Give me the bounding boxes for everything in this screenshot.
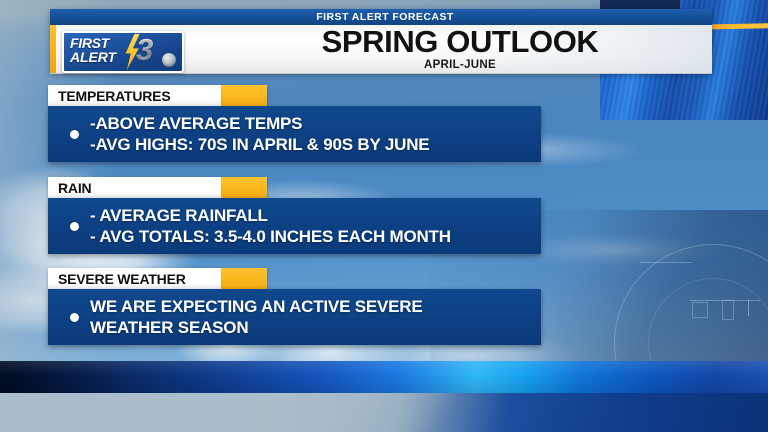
- section-line: - AVERAGE RAINFALL: [90, 205, 533, 226]
- section-heading: RAIN: [48, 181, 91, 195]
- page-subtitle: APRIL-JUNE: [220, 59, 700, 71]
- section-accent-block: [221, 268, 267, 289]
- section-content-panel: - AVERAGE RAINFALL - AVG TOTALS: 3.5-4.0…: [48, 198, 541, 254]
- section-content-panel: WE ARE EXPECTING AN ACTIVE SEVERE WEATHE…: [48, 289, 541, 345]
- logo-alert-text: ALERT: [70, 50, 116, 64]
- page-title: SPRING OUTLOOK: [220, 26, 700, 58]
- bullet-point-icon: [70, 313, 79, 322]
- section-temperatures: TEMPERATURES -ABOVE AVERAGE TEMPS -AVG H…: [48, 85, 541, 162]
- section-header-tab: SEVERE WEATHER: [48, 268, 267, 289]
- weather-graphic-stage: FIRST ALERT FORECAST FIRST ALERT 3 SPRIN…: [0, 0, 768, 432]
- logo-orb-icon: [162, 53, 176, 67]
- section-lines: WE ARE EXPECTING AN ACTIVE SEVERE WEATHE…: [90, 296, 541, 338]
- logo-first-text: FIRST: [70, 36, 116, 50]
- hud-tick-line: [748, 300, 749, 316]
- bullet-point-icon: [70, 130, 79, 139]
- section-heading: SEVERE WEATHER: [48, 272, 186, 286]
- logo-channel-number: 3: [136, 33, 153, 67]
- bottom-gradient-band: [0, 361, 768, 393]
- bullet-point-icon: [70, 222, 79, 231]
- section-lines: -ABOVE AVERAGE TEMPS -AVG HIGHS: 70S IN …: [90, 113, 541, 155]
- logo-wordmark: FIRST ALERT: [70, 36, 116, 64]
- section-header-tab: TEMPERATURES: [48, 85, 267, 106]
- hud-tick-line: [640, 262, 692, 263]
- header-banner: FIRST ALERT FORECAST FIRST ALERT 3 SPRIN…: [50, 9, 712, 73]
- first-alert-3-logo: FIRST ALERT 3: [62, 31, 184, 73]
- section-severe-weather: SEVERE WEATHER WE ARE EXPECTING AN ACTIV…: [48, 268, 541, 345]
- header-kicker-text: FIRST ALERT FORECAST: [308, 12, 454, 23]
- bottom-lower-band: [0, 393, 768, 432]
- hud-marker-box: [692, 302, 708, 318]
- section-rain: RAIN - AVERAGE RAINFALL - AVG TOTALS: 3.…: [48, 177, 541, 254]
- section-header-tab: RAIN: [48, 177, 267, 198]
- section-accent-block: [221, 177, 267, 198]
- section-heading: TEMPERATURES: [48, 89, 170, 103]
- section-line: -AVG HIGHS: 70S IN APRIL & 90S BY JUNE: [90, 134, 533, 155]
- header-yellow-accent: [50, 25, 56, 73]
- section-content-panel: -ABOVE AVERAGE TEMPS -AVG HIGHS: 70S IN …: [48, 106, 541, 162]
- section-line: -ABOVE AVERAGE TEMPS: [90, 113, 533, 134]
- section-lines: - AVERAGE RAINFALL - AVG TOTALS: 3.5-4.0…: [90, 205, 541, 247]
- section-line: WEATHER SEASON: [90, 317, 533, 338]
- section-line: WE ARE EXPECTING AN ACTIVE SEVERE: [90, 296, 533, 317]
- hud-marker-box: [722, 300, 734, 320]
- header-kicker-bar: FIRST ALERT FORECAST: [50, 9, 712, 25]
- section-line: - AVG TOTALS: 3.5-4.0 INCHES EACH MONTH: [90, 226, 533, 247]
- section-accent-block: [221, 85, 267, 106]
